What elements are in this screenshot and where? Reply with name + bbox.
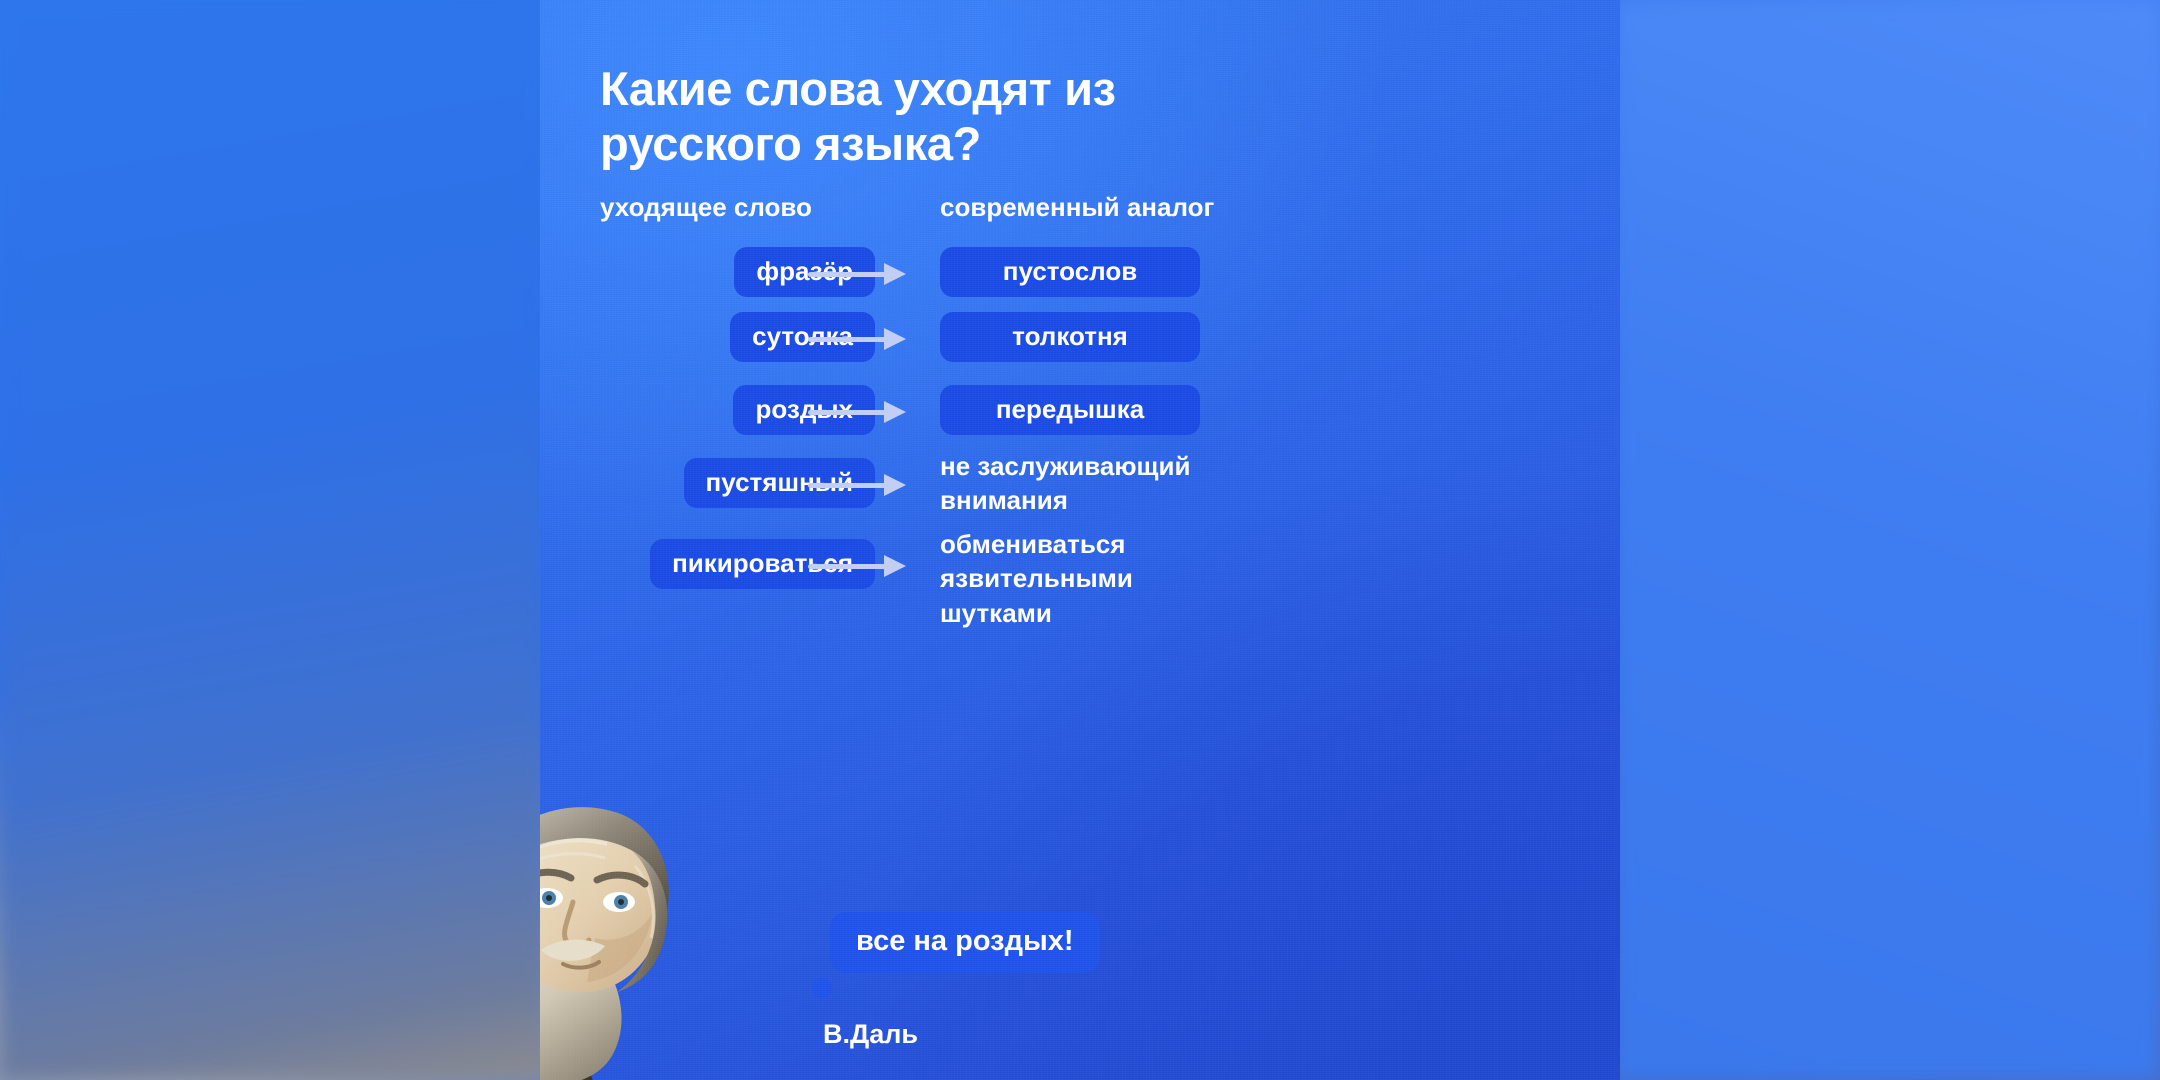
content-panel: Какие слова уходят из русского языка? ух… [540,0,1620,1080]
page-title-line-2: русского языка? [600,117,1360,172]
arrow-head [884,474,906,496]
modern-word-pill: пустослов [940,247,1200,297]
arrow-right-icon [808,555,906,577]
arrow-shaft [808,483,888,488]
background-left-blur [0,0,545,1080]
modern-word-pill: передышка [940,385,1200,435]
background-right-blur [1615,0,2160,1080]
infographic-canvas: Какие слова уходят из русского языка? ух… [0,0,2160,1080]
arrow-head [884,555,906,577]
modern-word-text: не заслуживающий внимания [940,449,1190,518]
page-title-line-1: Какие слова уходят из [600,62,1360,117]
arrow-shaft [808,337,888,342]
column-header-old-word: уходящее слово [600,192,812,223]
modern-word-pill: толкотня [940,312,1200,362]
quote-bubble: все на роздых! [830,912,1100,973]
arrow-right-icon [808,474,906,496]
portrait-vladimir-dahl [540,788,755,1080]
quote-author: В.Даль [823,1019,918,1050]
arrow-right-icon [808,401,906,423]
page-title: Какие слова уходят из русского языка? [600,62,1360,172]
column-header-modern-word: современный аналог [940,192,1214,223]
arrow-shaft [808,564,888,569]
arrow-right-icon [808,328,906,350]
arrow-head [884,401,906,423]
speech-bubble-tail-icon [812,978,832,998]
arrow-shaft [808,410,888,415]
arrow-right-icon [808,263,906,285]
arrow-shaft [808,272,888,277]
modern-word-text: обмениваться язвительными шутками [940,527,1133,630]
arrow-head [884,328,906,350]
arrow-head [884,263,906,285]
